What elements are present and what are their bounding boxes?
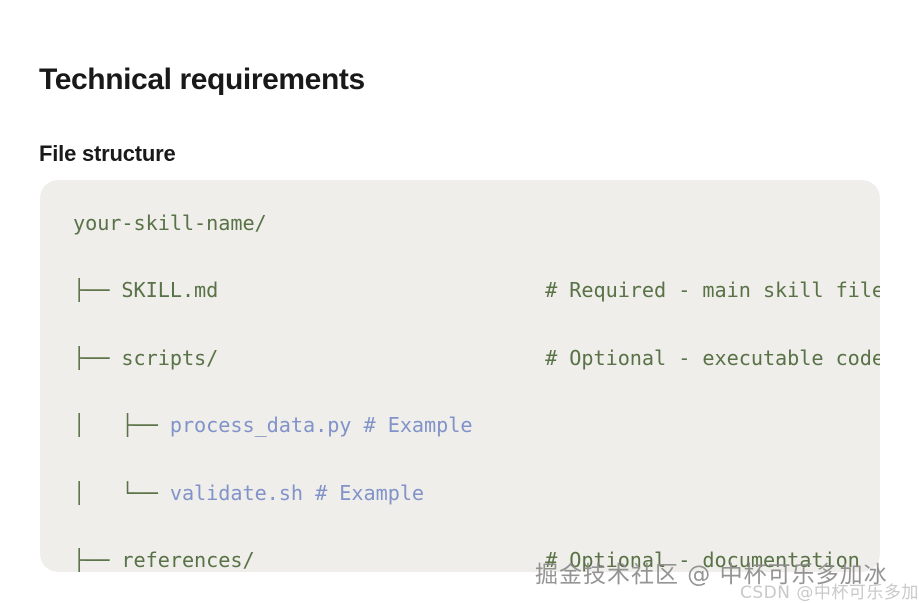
tree-entry-comment: # Required - main skill file [218, 278, 880, 302]
tree-entry-name: validate.sh [170, 481, 303, 505]
tree-entry-name: scripts/ [121, 346, 218, 370]
tree-entry-comment: # Example [351, 413, 472, 437]
section-title: File structure [39, 139, 176, 169]
tree-branch-glyph: ├── [73, 548, 121, 572]
tree-line: your-skill-name/ [73, 207, 880, 241]
tree-branch-glyph: ├── [73, 346, 121, 370]
watermark-csdn: CSDN @中杯可乐多加冰 [740, 578, 919, 603]
tree-entry-comment: # Optional - executable code [218, 346, 880, 370]
tree-branch-glyph: │ ├── [73, 413, 170, 437]
tree-entry-name: process_data.py [170, 413, 352, 437]
tree-branch-glyph: ├── [73, 278, 121, 302]
tree-entry-name: SKILL.md [121, 278, 218, 302]
tree-branch-glyph: │ └── [73, 481, 170, 505]
tree-entry-name: references/ [121, 548, 254, 572]
tree-entry-comment: # Example [303, 481, 424, 505]
tree-line: ├── SKILL.md # Required - main skill fil… [73, 274, 880, 308]
page-title: Technical requirements [39, 60, 365, 100]
tree-line: │ └── validate.sh # Example [73, 477, 880, 511]
tree-line: ├── scripts/ # Optional - executable cod… [73, 342, 880, 376]
tree-line: │ ├── process_data.py # Example [73, 409, 880, 443]
code-block: your-skill-name/ ├── SKILL.md # Required… [40, 180, 880, 572]
tree-entry-name: your-skill-name/ [73, 211, 267, 235]
file-structure-tree: your-skill-name/ ├── SKILL.md # Required… [73, 207, 880, 572]
